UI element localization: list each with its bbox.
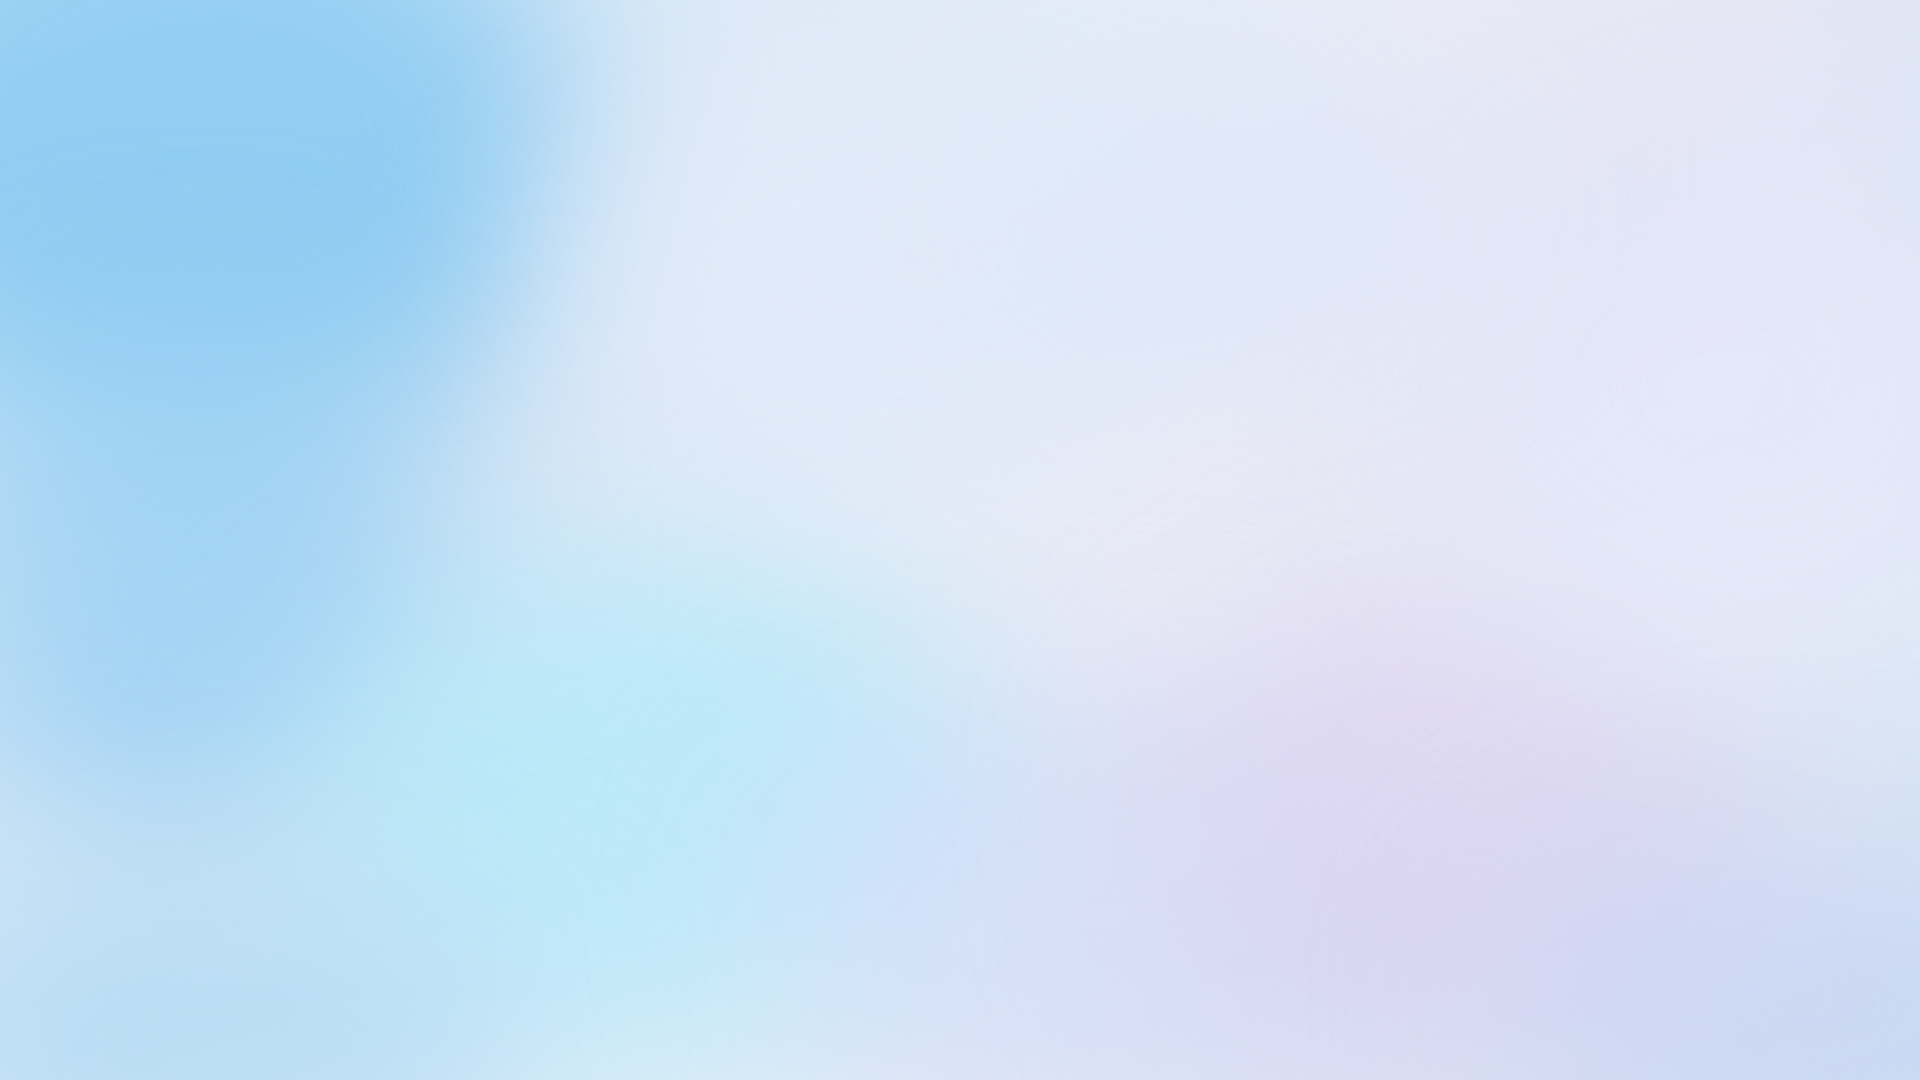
stage-chevron-band: [90, 368, 1830, 468]
process-diagram: [0, 0, 1920, 1080]
